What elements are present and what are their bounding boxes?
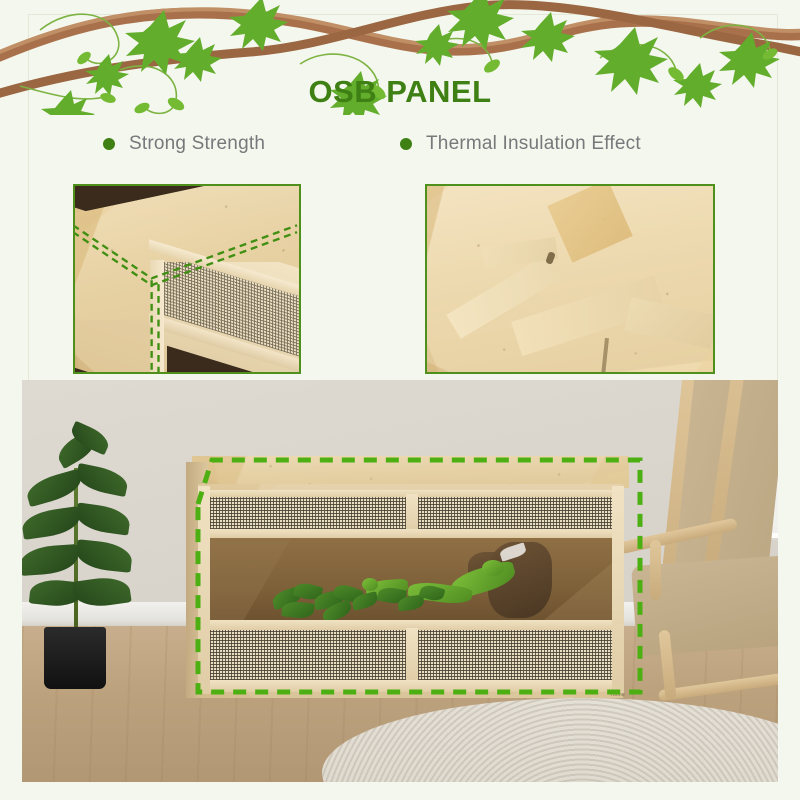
panel-highlight-dashed-outline [75,186,299,373]
feature-item-strong-strength: Strong Strength [103,133,265,155]
top-mesh-vent-left [210,497,406,529]
plant-pot [44,627,106,689]
feature-label: Strong Strength [129,133,265,155]
detail-photo-osb-texture [425,184,715,374]
bottom-mesh-vent-right [418,630,612,680]
green-dot-icon [400,138,412,150]
osb-terrarium: Home [182,456,639,704]
infographic-canvas: OSB PANEL Strong Strength Thermal Insula… [0,0,800,800]
top-mesh-vent-right [418,497,612,529]
chair-arm-post [650,540,661,600]
page-title: OSB PANEL [0,74,800,110]
brand-mark: Home [610,692,625,698]
feature-bullet-list: Strong Strength Thermal Insulation Effec… [0,133,800,167]
feature-item-thermal-insulation: Thermal Insulation Effect [400,133,641,155]
main-product-scene: Home [22,380,778,782]
detail-photo-panel-corner [73,184,301,374]
green-dot-icon [103,138,115,150]
feature-label: Thermal Insulation Effect [426,133,641,155]
bottom-mesh-vent-left [210,630,406,680]
